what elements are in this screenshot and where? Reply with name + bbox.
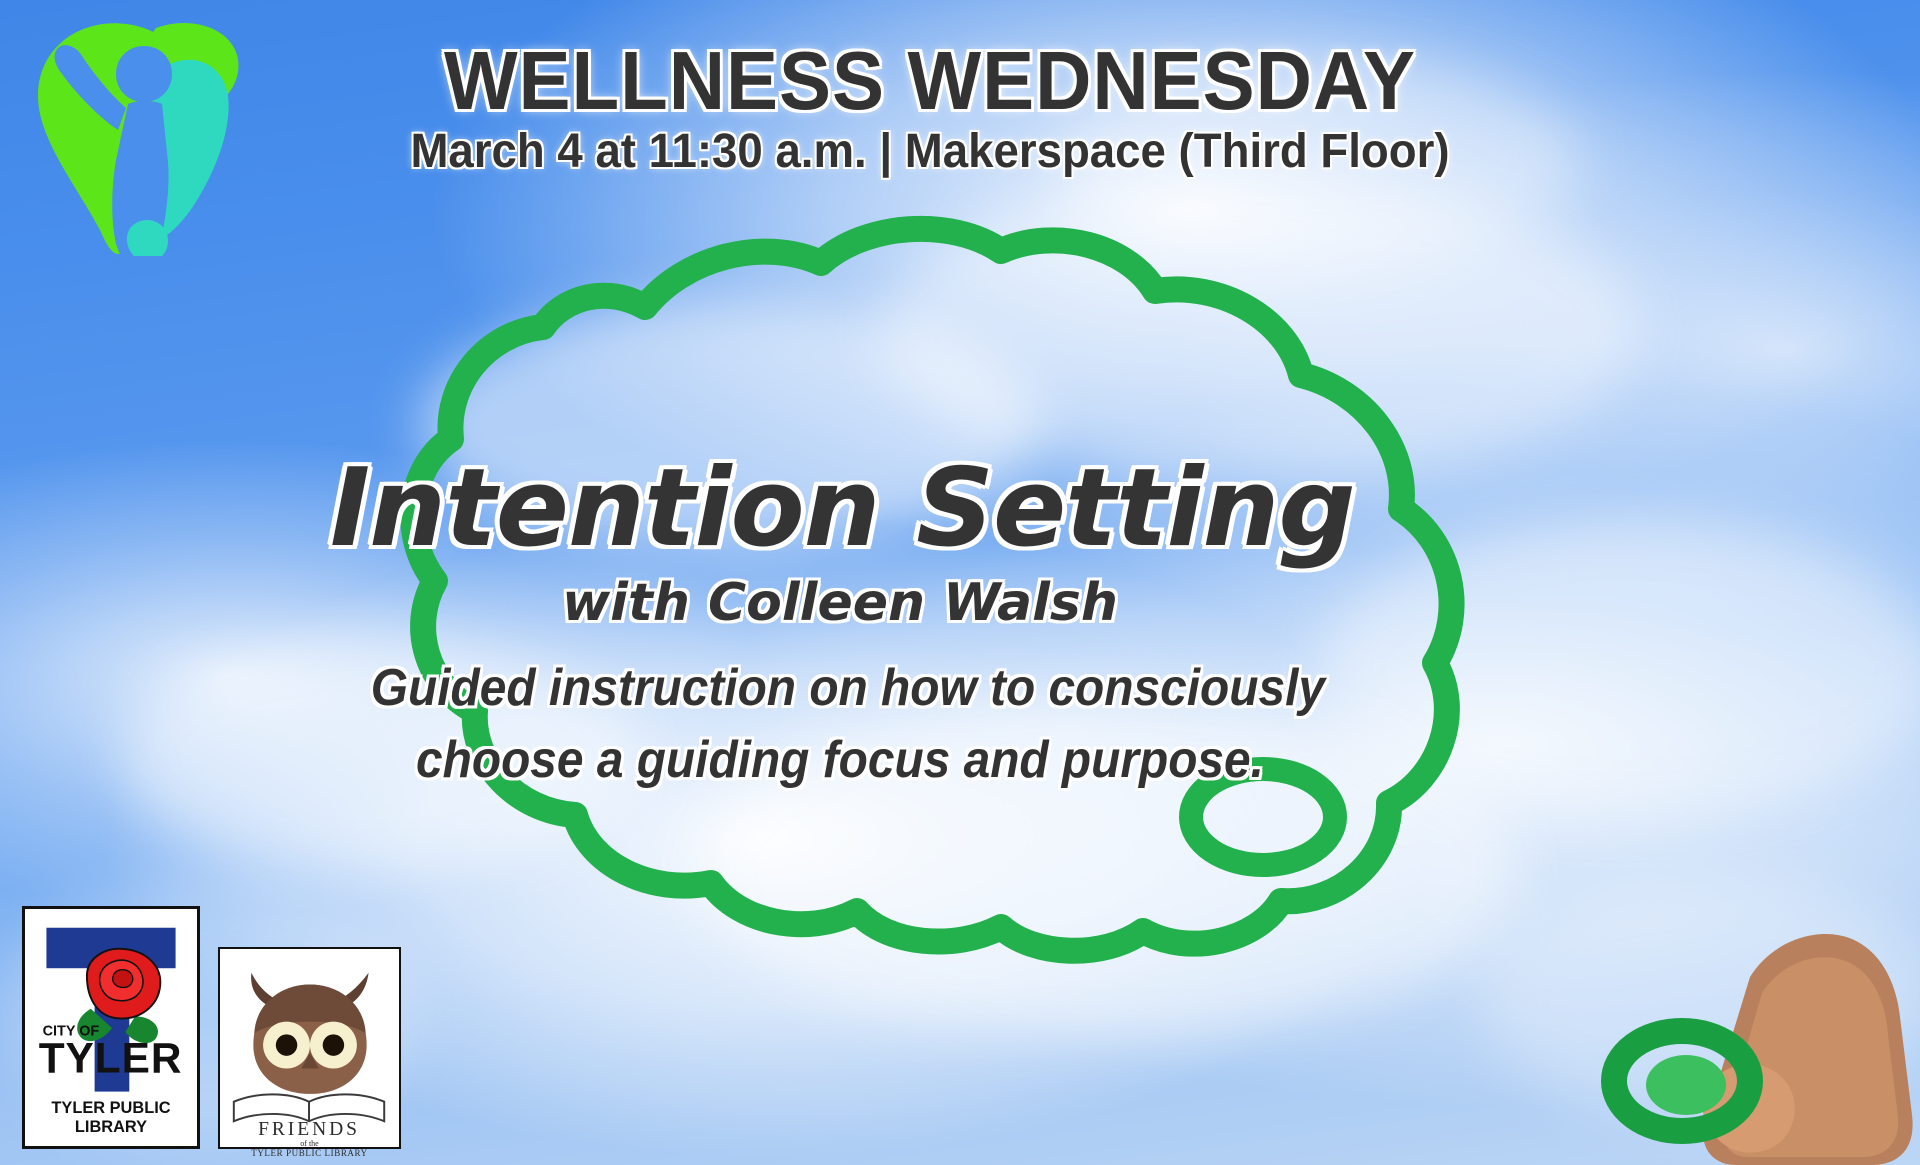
cloud-wisp xyxy=(1320,520,1920,820)
owl-pupil-right xyxy=(323,1034,344,1055)
logo-row: CITY OF TYLER TYLER PUBLIC LIBRARY xyxy=(22,906,401,1149)
description-line-1: Guided instruction on how to consciously xyxy=(371,653,1309,725)
tyler-library-line-2: LIBRARY xyxy=(75,1118,147,1136)
friends-wordmark: FRIENDS xyxy=(258,1119,360,1140)
page-title: WELLNESS WEDNESDAY xyxy=(328,40,1531,121)
logo-head-cutout xyxy=(116,46,172,102)
tyler-public-library-logo: CITY OF TYLER TYLER PUBLIC LIBRARY xyxy=(22,906,200,1149)
cloud-wisp xyxy=(880,180,1640,480)
tyler-library-line-1: TYLER PUBLIC xyxy=(51,1099,170,1117)
cloud-wisp xyxy=(1480,880,1920,1120)
wellness-figure-logo xyxy=(20,12,290,262)
event-details: March 4 at 11:30 a.m. | Makerspace (Thir… xyxy=(322,127,1538,177)
program-description: Guided instruction on how to consciously… xyxy=(371,653,1309,797)
owl-pupil-left xyxy=(276,1034,297,1055)
friends-of-library-logo: FRIENDS of the TYLER PUBLIC LIBRARY xyxy=(218,947,401,1149)
bubble-content: Intention Setting with Colleen Walsh Gui… xyxy=(330,455,1350,797)
tyler-wordmark: TYLER xyxy=(39,1034,183,1081)
rose-center xyxy=(113,970,133,988)
wellness-wednesday-poster: WELLNESS WEDNESDAY March 4 at 11:30 a.m.… xyxy=(0,0,1920,1165)
friends-library-text: TYLER PUBLIC LIBRARY xyxy=(226,1148,393,1158)
presenter-byline: with Colleen Walsh xyxy=(330,577,1350,629)
header-block: WELLNESS WEDNESDAY March 4 at 11:30 a.m.… xyxy=(290,40,1570,178)
program-heading: Intention Setting xyxy=(330,455,1350,563)
description-line-2: choose a guiding focus and purpose. xyxy=(371,725,1309,797)
